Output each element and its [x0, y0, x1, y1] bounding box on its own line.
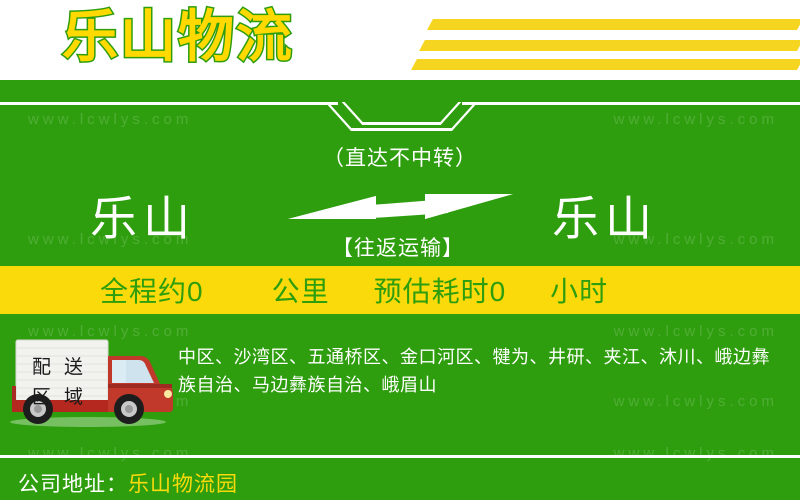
coverage-area-list: 中区、沙湾区、五通桥区、金口河区、犍为、井研、夹江、沐川、峨边彝族自治、马边彝族… [178, 343, 778, 399]
company-address-row: 公司地址：乐山物流园 [18, 468, 238, 498]
origin-city-label: 乐山 [90, 180, 196, 249]
time-unit-label: 小时 [550, 270, 608, 310]
decorative-stripe-3 [411, 59, 800, 70]
watermark: www.lcwlys.com [614, 323, 778, 340]
truck-box-char: 域 [64, 382, 83, 409]
truck-box-char: 配 [32, 352, 51, 379]
banner-header: 乐山物流 [0, 0, 800, 80]
direct-shipping-label: （直达不中转） [0, 142, 800, 172]
watermark: www.lcwlys.com [28, 445, 192, 462]
logistics-banner: 乐山物流 www.lcwlys.com www.lcwlys.com www.l… [0, 0, 800, 500]
company-logo-text: 乐山物流 [62, 3, 294, 73]
destination-city-label: 乐山 [552, 180, 658, 249]
company-address-label: 公司地址： [18, 473, 128, 496]
watermark: www.lcwlys.com [28, 111, 192, 128]
delivery-truck-icon: 配 送 区 域 [8, 338, 176, 428]
total-distance-label: 全程约0 [100, 270, 204, 310]
bidirectional-arrow-icon [288, 186, 513, 231]
banner-body: www.lcwlys.com www.lcwlys.com www.lcwlys… [0, 80, 800, 500]
watermark: www.lcwlys.com [614, 111, 778, 128]
divider-rule-left [0, 102, 338, 105]
footer-divider [0, 455, 800, 458]
truck-box-char: 送 [64, 352, 83, 379]
distance-unit-label: 公里 [272, 270, 330, 310]
company-address-value: 乐山物流园 [128, 473, 238, 496]
decorative-stripe-1 [427, 19, 800, 30]
estimated-time-label: 预估耗时0 [374, 270, 507, 310]
decorative-stripe-2 [419, 40, 800, 51]
distance-band: 全程约0 公里 预估耗时0 小时 [0, 266, 800, 314]
roundtrip-label: 【往返运输】 [238, 232, 558, 262]
divider-rule-right [462, 102, 800, 105]
watermark: www.lcwlys.com [614, 445, 778, 462]
truck-box-char: 区 [32, 382, 51, 409]
